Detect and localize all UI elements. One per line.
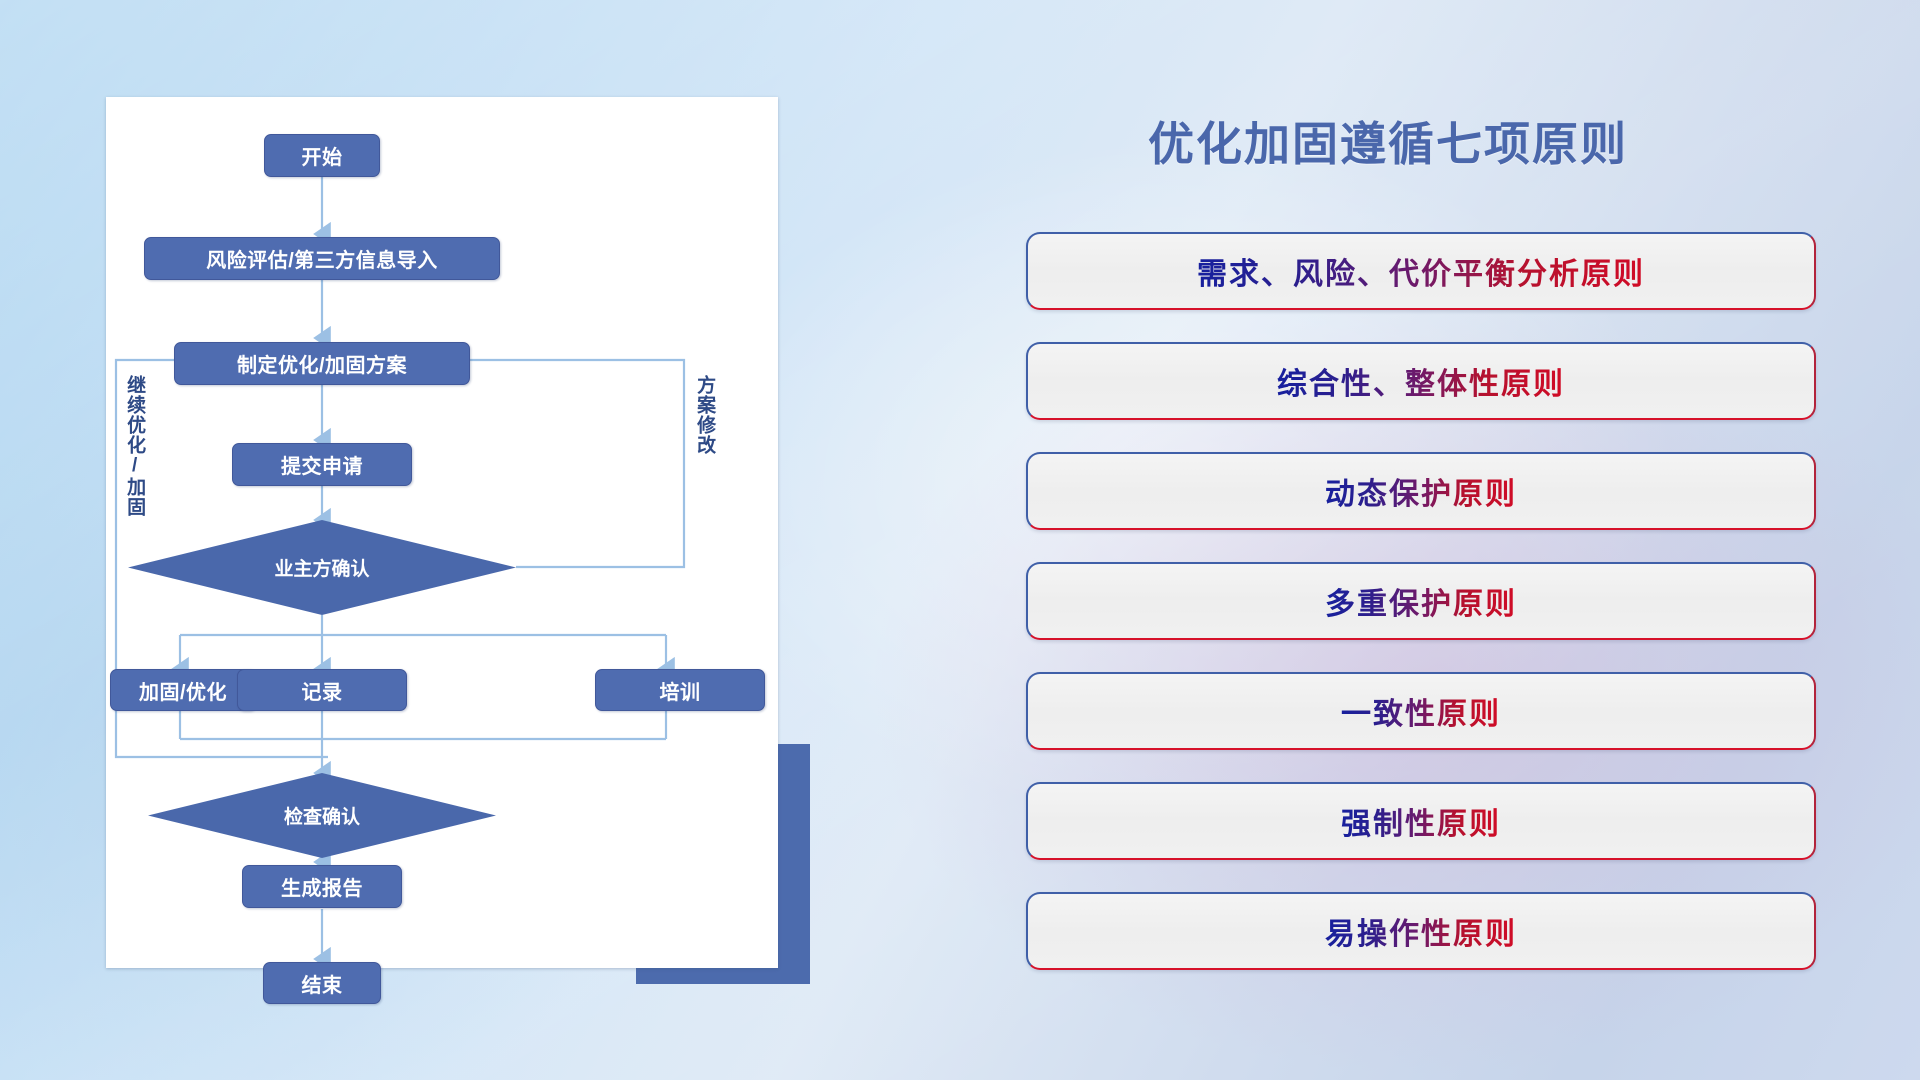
slide-canvas: 继续优化/加固 方案修改 开始 风险评估/第三方信息导入 制定优化/加固方案 提…	[0, 0, 1920, 1080]
flow-node-record[interactable]: 记录	[237, 669, 407, 711]
principle-label: 综合性、整体性原则	[1277, 359, 1565, 403]
principle-item[interactable]: 多重保护原则	[1026, 562, 1816, 640]
principle-label: 一致性原则	[1341, 689, 1501, 733]
principle-item[interactable]: 强制性原则	[1026, 782, 1816, 860]
flowchart-card: 继续优化/加固 方案修改 开始 风险评估/第三方信息导入 制定优化/加固方案 提…	[106, 97, 778, 968]
flow-node-start[interactable]: 开始	[264, 134, 380, 177]
principle-label: 多重保护原则	[1325, 579, 1517, 623]
principle-label: 强制性原则	[1341, 799, 1501, 843]
principle-label: 需求、风险、代价平衡分析原则	[1197, 249, 1645, 293]
edge-label-right-loop: 方案修改	[694, 375, 714, 495]
flow-node-owner-confirm[interactable]: 业主方确认	[128, 520, 516, 615]
flow-node-end[interactable]: 结束	[263, 962, 381, 1004]
page-title: 优化加固遵循七项原则	[1148, 108, 1628, 174]
principle-item[interactable]: 需求、风险、代价平衡分析原则	[1026, 232, 1816, 310]
principle-label: 动态保护原则	[1325, 469, 1517, 513]
flow-node-reinforce-optimize[interactable]: 加固/优化	[110, 669, 256, 711]
principle-item[interactable]: 一致性原则	[1026, 672, 1816, 750]
flow-node-check-confirm[interactable]: 检查确认	[148, 773, 496, 858]
principle-item[interactable]: 易操作性原则	[1026, 892, 1816, 970]
flow-node-generate-report[interactable]: 生成报告	[242, 865, 402, 908]
flow-node-risk-assessment[interactable]: 风险评估/第三方信息导入	[144, 237, 500, 280]
principle-label: 易操作性原则	[1325, 909, 1517, 953]
principle-item[interactable]: 动态保护原则	[1026, 452, 1816, 530]
principle-item[interactable]: 综合性、整体性原则	[1026, 342, 1816, 420]
flow-node-check-confirm-label: 检查确认	[284, 802, 360, 829]
flow-node-submit-application[interactable]: 提交申请	[232, 443, 412, 486]
flow-node-training[interactable]: 培训	[595, 669, 765, 711]
flow-node-make-plan[interactable]: 制定优化/加固方案	[174, 342, 470, 385]
principles-list: 需求、风险、代价平衡分析原则 综合性、整体性原则 动态保护原则 多重保护原则 一…	[1026, 232, 1816, 970]
flow-node-owner-confirm-label: 业主方确认	[274, 554, 369, 581]
